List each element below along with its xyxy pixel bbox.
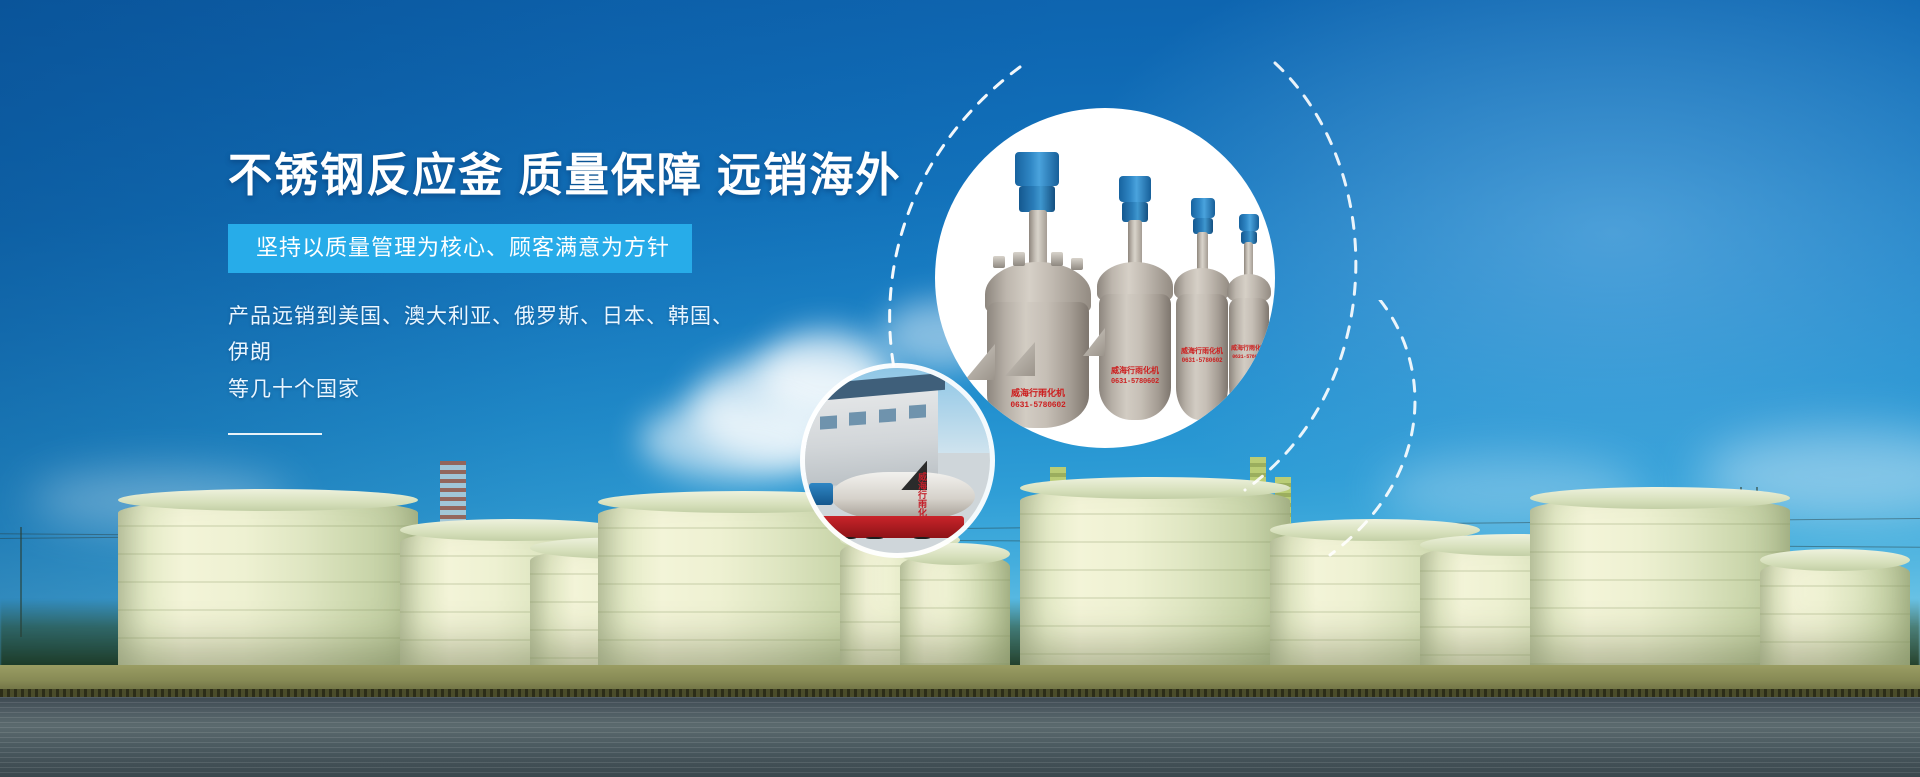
product-brand-label: 威海行雨化机 0631-5780602 <box>1225 346 1273 361</box>
brand-text: 威海行雨化机 <box>1011 388 1065 398</box>
subtitle-badge: 坚持以质量管理为核心、顾客满意为方针 <box>228 224 692 273</box>
storage-tank <box>118 499 418 669</box>
storage-tank <box>1530 497 1790 669</box>
banner-copy: 不锈钢反应釜 质量保障 远销海外 坚持以质量管理为核心、顾客满意为方针 产品远销… <box>228 150 868 435</box>
factory-window <box>909 404 926 418</box>
reactor-vessel: 威海行雨化机 0631-5780602 <box>1171 198 1233 422</box>
truck-wheel <box>914 537 930 539</box>
storage-tank <box>900 553 1010 669</box>
reactor-vessel: 威海行雨化机 0631-5780602 <box>1093 176 1177 424</box>
horizontal-vessel <box>831 472 975 520</box>
reactor-vessel: 威海行雨化机 0631-5780602 <box>1225 214 1273 420</box>
hero-banner: 威海行雨化机 0631-5780602 威海行雨化机 0631-5780602 <box>0 0 1920 777</box>
product-brand-label: 威海行雨化机 0631-5780602 <box>989 388 1087 411</box>
phone-text: 0631-5780602 <box>1182 357 1223 364</box>
phone-text: 0631-5780602 <box>1232 354 1266 360</box>
storage-tank <box>1020 487 1290 669</box>
reactor-vessel: 威海行雨化机 0631-5780602 <box>979 152 1097 428</box>
product-brand-label: 威海行雨化机 0631-5780602 <box>1097 366 1173 387</box>
vessel-motor <box>809 483 833 505</box>
truck-wheel <box>866 537 882 539</box>
description-line-2: 等几十个国家 <box>228 378 360 401</box>
product-brand-label: 威海行雨化机 0631-5780602 <box>1173 348 1231 366</box>
description-text: 产品远销到美国、澳大利亚、俄罗斯、日本、韩国、伊朗 等几十个国家 <box>228 299 748 409</box>
pylon <box>20 527 22 637</box>
divider-rule <box>228 433 322 435</box>
factory-window <box>879 408 896 422</box>
brand-text: 威海行雨化机 <box>1181 348 1223 355</box>
phone-text: 0631-5780602 <box>1010 401 1065 410</box>
truck-chassis <box>816 516 964 538</box>
brand-text: 威海行雨化机 <box>1231 346 1267 352</box>
phone-text: 0631-5780602 <box>1111 378 1159 386</box>
description-line-1: 产品远销到美国、澳大利亚、俄罗斯、日本、韩国、伊朗 <box>228 305 734 365</box>
storage-tank <box>1760 559 1910 669</box>
page-title: 不锈钢反应釜 质量保障 远销海外 <box>228 150 842 202</box>
water-surface <box>0 697 1920 777</box>
brand-text: 威海行雨化机 <box>1111 366 1159 375</box>
